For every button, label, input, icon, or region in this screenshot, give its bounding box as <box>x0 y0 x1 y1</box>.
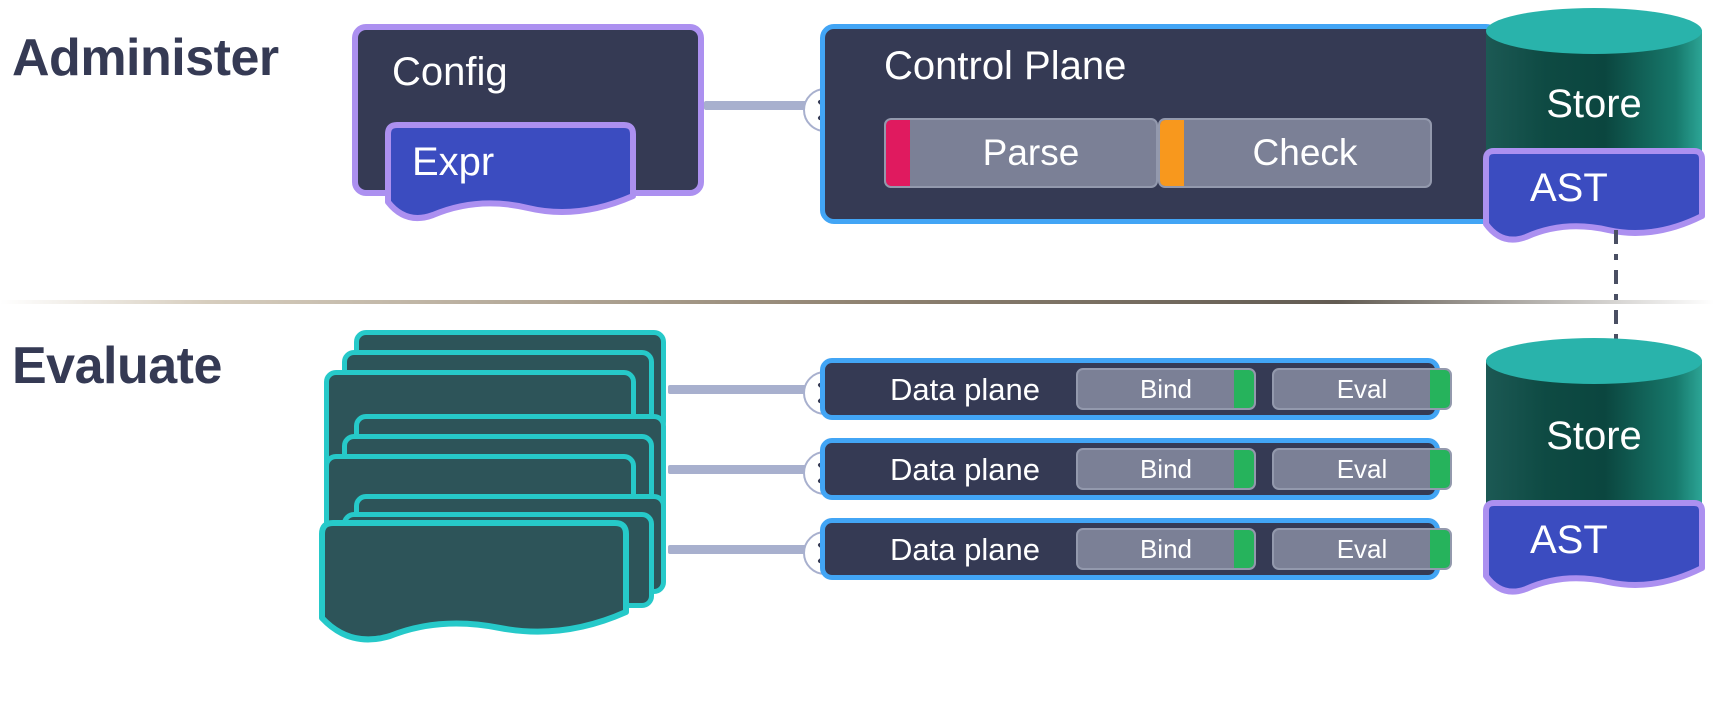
stage-chip-bind[interactable]: Bind <box>1076 448 1256 490</box>
bind-label: Bind <box>1140 534 1192 565</box>
section-label-administer: Administer <box>12 32 279 84</box>
data-plane-row-3: Data plane Bind Eval <box>820 518 1440 580</box>
bind-accent-bar <box>1234 530 1254 568</box>
stage-chip-eval[interactable]: Eval <box>1272 448 1452 490</box>
stage-chip-bind[interactable]: Bind <box>1076 368 1256 410</box>
stage-chip-check[interactable]: Check <box>1158 118 1432 188</box>
data-plane-row-2: Data plane Bind Eval <box>820 438 1440 500</box>
store-label-administer: Store <box>1486 84 1702 124</box>
bind-accent-bar <box>1234 370 1254 408</box>
eval-label: Eval <box>1337 454 1388 485</box>
data-plane-row-1: Data plane Bind Eval <box>820 358 1440 420</box>
ast-artifact-evaluate: AST <box>1478 500 1710 596</box>
cylinder-top-ellipse <box>1486 338 1702 384</box>
request-front-card <box>318 518 630 640</box>
diagram-canvas: Administer Evaluate Config Expr Control … <box>0 0 1714 705</box>
stage-chip-eval[interactable]: Eval <box>1272 368 1452 410</box>
data-plane-title: Data plane <box>890 534 1040 565</box>
eval-accent-bar <box>1430 530 1450 568</box>
ast-label-administer: AST <box>1530 168 1608 208</box>
control-plane-title: Control Plane <box>884 46 1126 86</box>
stage-chip-eval[interactable]: Eval <box>1272 528 1452 570</box>
check-label: Check <box>1233 132 1358 174</box>
check-accent-bar <box>1160 120 1184 186</box>
connector-request-to-data-plane-3 <box>668 545 824 554</box>
cylinder-top-ellipse <box>1486 8 1702 54</box>
config-title: Config <box>392 52 508 92</box>
parse-label: Parse <box>963 132 1080 174</box>
eval-accent-bar <box>1430 450 1450 488</box>
eval-label: Eval <box>1337 534 1388 565</box>
ast-label-evaluate: AST <box>1530 520 1608 560</box>
stage-chip-parse[interactable]: Parse <box>884 118 1158 188</box>
bind-accent-bar <box>1234 450 1254 488</box>
stage-chip-bind[interactable]: Bind <box>1076 528 1256 570</box>
bind-label: Bind <box>1140 374 1192 405</box>
request-label: Request <box>40 222 196 264</box>
ast-artifact-administer: AST <box>1478 148 1710 244</box>
section-divider <box>0 300 1714 304</box>
expr-label: Expr <box>412 142 494 182</box>
data-plane-title: Data plane <box>890 374 1040 405</box>
eval-accent-bar <box>1430 370 1450 408</box>
data-plane-title: Data plane <box>890 454 1040 485</box>
connector-request-to-data-plane-2 <box>668 465 824 474</box>
parse-accent-bar <box>886 120 910 186</box>
section-label-evaluate: Evaluate <box>12 340 222 392</box>
expr-artifact: Expr <box>378 122 642 222</box>
eval-label: Eval <box>1337 374 1388 405</box>
request-stack[interactable] <box>318 330 666 640</box>
store-label-evaluate: Store <box>1486 416 1702 456</box>
bind-label: Bind <box>1140 454 1192 485</box>
connector-request-to-data-plane-1 <box>668 385 824 394</box>
